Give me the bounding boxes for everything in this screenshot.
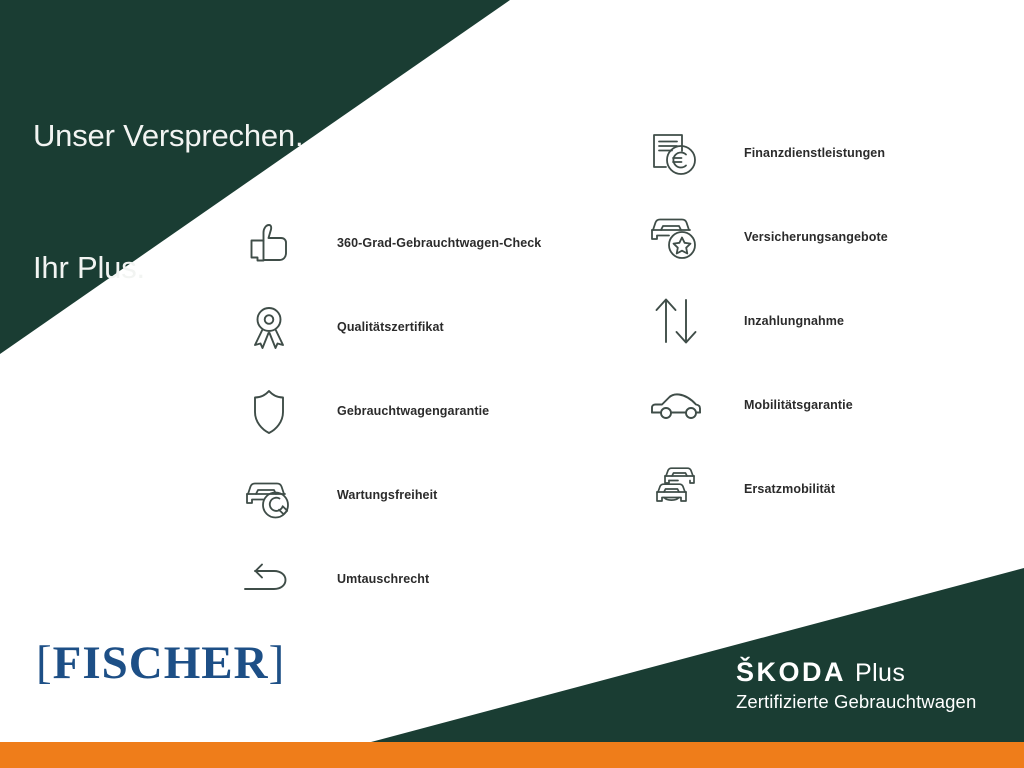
feature-label: Qualitätszertifikat bbox=[337, 320, 444, 334]
feature-label: Inzahlungnahme bbox=[744, 314, 844, 328]
feature-label: Gebrauchtwagengarantie bbox=[337, 404, 489, 418]
return-arrow-icon bbox=[238, 548, 300, 610]
brand-tagline: Zertifizierte Gebrauchtwagen bbox=[736, 693, 976, 712]
car-wrench-icon bbox=[238, 464, 300, 526]
feature-item: 360-Grad-Gebrauchtwagen-Check bbox=[238, 208, 541, 278]
feature-item: Qualitätszertifikat bbox=[238, 292, 541, 362]
feature-label: Ersatzmobilität bbox=[744, 482, 835, 496]
feature-item: Inzahlungnahme bbox=[645, 286, 888, 356]
feature-item: Versicherungsangebote bbox=[645, 202, 888, 272]
shield-icon bbox=[238, 380, 300, 442]
feature-label: Umtauschrecht bbox=[337, 572, 429, 586]
brand-lockup: ŠKODA Plus Zertifizierte Gebrauchtwagen bbox=[736, 659, 976, 712]
feature-label: Finanzdienstleistungen bbox=[744, 146, 885, 160]
car-side-icon bbox=[645, 374, 707, 436]
two-cars-icon bbox=[645, 458, 707, 520]
dealer-logo-name: FISCHER bbox=[53, 637, 269, 689]
feature-item: Wartungsfreiheit bbox=[238, 460, 541, 530]
feature-item: Finanzdienstleistungen bbox=[645, 118, 888, 188]
feature-item: Ersatzmobilität bbox=[645, 454, 888, 524]
rosette-award-icon bbox=[238, 296, 300, 358]
arrows-up-down-icon bbox=[645, 290, 707, 352]
feature-label: Mobilitätsgarantie bbox=[744, 398, 853, 412]
car-star-icon bbox=[645, 206, 707, 268]
brand-name: ŠKODA bbox=[736, 659, 846, 686]
dealer-logo-bracket-open: [ bbox=[36, 637, 53, 689]
brand-suffix: Plus bbox=[855, 661, 905, 686]
feature-item: Gebrauchtwagengarantie bbox=[238, 376, 541, 446]
dealer-logo-bracket-close: ] bbox=[269, 637, 286, 689]
feature-label: Wartungsfreiheit bbox=[337, 488, 437, 502]
feature-label: Versicherungsangebote bbox=[744, 230, 888, 244]
orange-footer-bar bbox=[0, 742, 1024, 768]
thumbs-up-icon bbox=[238, 212, 300, 274]
document-euro-icon bbox=[645, 122, 707, 184]
dealer-logo: [FISCHER] bbox=[36, 640, 285, 687]
feature-label: 360-Grad-Gebrauchtwagen-Check bbox=[337, 236, 541, 250]
promo-banner: Unser Versprechen. Ihr Plus. 360-Grad-Ge… bbox=[0, 0, 1024, 768]
feature-item: Umtauschrecht bbox=[238, 544, 541, 614]
feature-column-left: 360-Grad-Gebrauchtwagen-Check Qualitätsz… bbox=[238, 208, 541, 628]
feature-item: Mobilitätsgarantie bbox=[645, 370, 888, 440]
feature-column-right: Finanzdienstleistungen Versicherungsange… bbox=[645, 118, 888, 538]
brand-name-row: ŠKODA Plus bbox=[736, 659, 976, 686]
headline-line-1: Unser Versprechen. bbox=[33, 114, 303, 158]
